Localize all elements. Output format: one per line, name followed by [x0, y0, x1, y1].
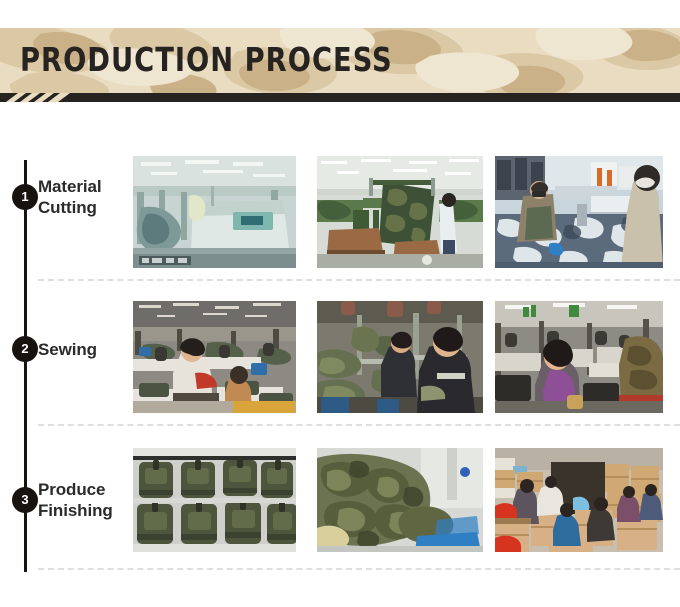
- photo-camouflage-fabric-inspection[interactable]: [317, 156, 483, 268]
- photo-sewing-workshop-aisle[interactable]: [495, 301, 663, 413]
- banner-bottom-bar: [0, 93, 680, 102]
- step-label-3-line2: Finishing: [38, 500, 124, 521]
- step-badge-1: 1: [12, 184, 38, 210]
- photo-packing-boxes-area[interactable]: [495, 448, 663, 552]
- step-label-1-line1: Material: [38, 176, 124, 197]
- photo-weaving-machine-workshop[interactable]: [133, 156, 296, 268]
- step-label-1: Material Cutting: [38, 176, 124, 218]
- step-badge-2: 2: [12, 336, 38, 362]
- photo-fabric-cutting-table[interactable]: [495, 156, 663, 268]
- header-banner: PRODUCTION PROCESS: [0, 28, 680, 99]
- production-process-page: PRODUCTION PROCESS 1 Material Cutting: [0, 0, 680, 607]
- photo-sewing-machines-closeup[interactable]: [317, 301, 483, 413]
- photo-bulk-backpack-pile[interactable]: [317, 448, 483, 552]
- page-title: PRODUCTION PROCESS: [20, 42, 393, 78]
- step-label-2: Sewing: [38, 339, 124, 360]
- hazard-stripes-icon: [0, 93, 82, 102]
- photo-finished-backpacks-grid[interactable]: [133, 448, 296, 552]
- step-label-1-line2: Cutting: [38, 197, 124, 218]
- divider-3: [38, 568, 680, 570]
- step-label-2-line1: Sewing: [38, 339, 124, 360]
- divider-2: [38, 424, 680, 426]
- photo-sewing-line-overview[interactable]: [133, 301, 296, 413]
- step-label-3: Produce Finishing: [38, 479, 124, 521]
- step-badge-3: 3: [12, 487, 38, 513]
- step-label-3-line1: Produce: [38, 479, 124, 500]
- divider-1: [38, 279, 680, 281]
